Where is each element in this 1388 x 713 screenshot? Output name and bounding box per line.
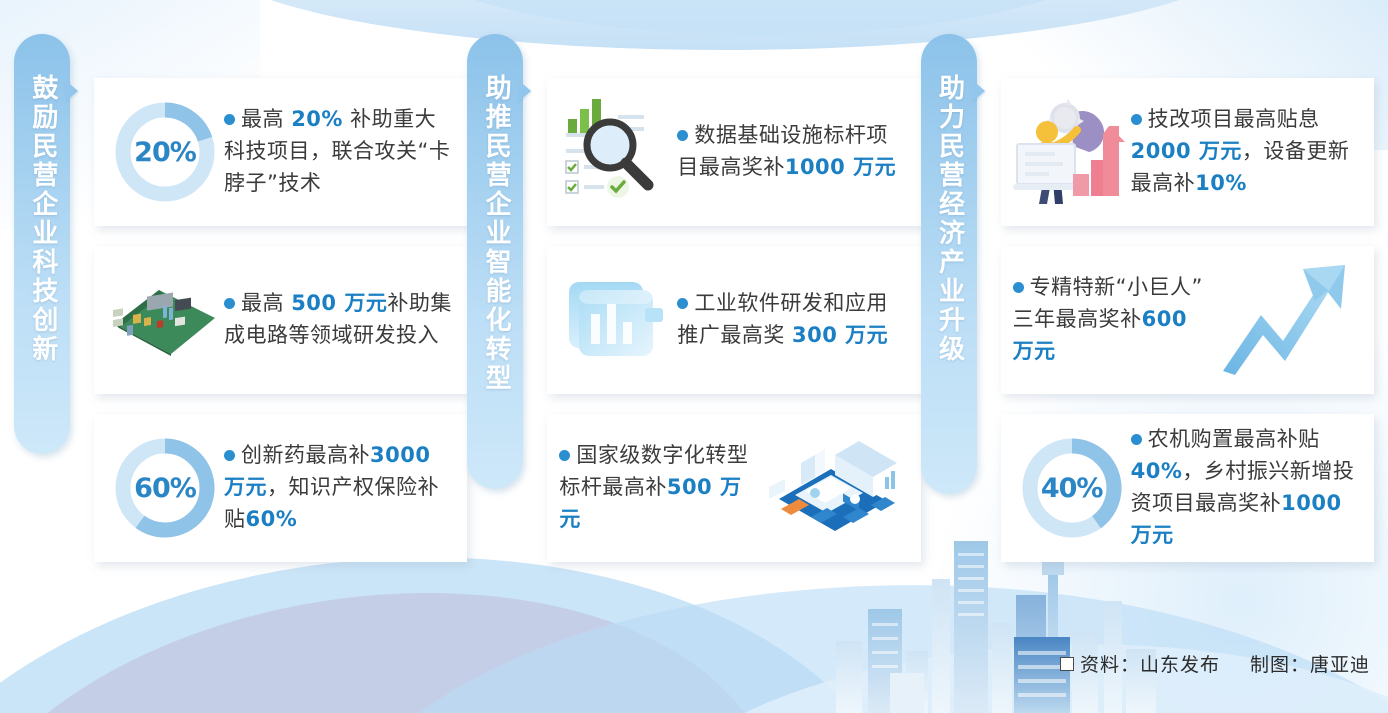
donut-value-label: 60% (111, 434, 219, 542)
column-technology-innovation: 鼓励民营企业科技创新 20% 最高 20% 补助重大科 (14, 34, 467, 623)
bullet-icon (1131, 434, 1142, 445)
card-data-infrastructure[interactable]: 数据基础设施标杆项目最高奖补1000 万元 (547, 78, 920, 226)
bullet-icon (1013, 282, 1024, 293)
card-stack-column-2: 数据基础设施标杆项目最高奖补1000 万元 (547, 34, 920, 623)
card-visual (759, 426, 909, 550)
donut-chart-40-icon: 40% (1018, 434, 1126, 542)
card-text-run-1: 20% (291, 107, 343, 131)
card-digital-transformation-benchmark[interactable]: 国家级数字化转型标杆最高补500 万元 (547, 414, 920, 562)
magnifier-chart-icon (562, 97, 674, 207)
card-text-run-0: 创新药最高补 (241, 443, 370, 467)
card-text: 最高 500 万元补助集成电路等领域研发投入 (224, 288, 455, 352)
card-innovative-drug-subsidy[interactable]: 60% 创新药最高补3000 万元，知识产权保险补贴60% (94, 414, 467, 562)
bullet-icon (677, 130, 688, 141)
bullet-icon (224, 450, 235, 461)
bullet-icon (224, 298, 235, 309)
bullet-icon (677, 298, 688, 309)
card-text-run-0: 技改项目最高贴息 (1148, 107, 1320, 131)
card-visual: 40% (1013, 426, 1131, 550)
banner-technology-innovation: 鼓励民营企业科技创新 (14, 34, 70, 454)
bullet-icon (559, 450, 570, 461)
credit-designer: 制图：唐亚迪 (1250, 650, 1370, 677)
donut-chart-20-icon: 20% (111, 98, 219, 206)
circuit-board-icon (109, 278, 221, 362)
card-agricultural-machinery-subsidy[interactable]: 40% 农机购置最高补贴40%，乡村振兴新增投资项目最高奖补1000 万元 (1001, 414, 1374, 562)
column-container: 鼓励民营企业科技创新 20% 最高 20% 补助重大科 (0, 0, 1388, 713)
banner-intelligent-transformation: 助推民营企业智能化转型 (467, 34, 523, 489)
card-text: 创新药最高补3000 万元，知识产权保险补贴60% (224, 440, 455, 536)
banner-label: 助力民营经济产业升级 (934, 74, 964, 494)
credit-source: 资料：山东发布 (1080, 650, 1220, 677)
credit-marker-icon (1060, 657, 1074, 671)
card-text: 技改项目最高贴息 2000 万元，设备更新最高补10% (1131, 104, 1362, 200)
card-text-run-1: 500 万元 (291, 291, 387, 315)
banner-label: 鼓励民营企业科技创新 (27, 74, 57, 454)
card-text: 最高 20% 补助重大科技项目，联合攻关“卡脖子”技术 (224, 104, 455, 200)
card-text-run-1: 300 万元 (792, 323, 888, 347)
card-text-run-0: 农机购置最高补贴 (1148, 427, 1320, 451)
card-visual (106, 258, 224, 382)
card-stack-column-1: 20% 最高 20% 补助重大科技项目，联合攻关“卡脖子”技术 (94, 34, 467, 623)
card-visual (559, 90, 677, 214)
card-text: 农机购置最高补贴40%，乡村振兴新增投资项目最高奖补1000 万元 (1131, 424, 1362, 552)
credit-line: 资料：山东发布 制图：唐亚迪 (1060, 650, 1370, 677)
card-text-run-3: 10% (1195, 171, 1247, 195)
card-text-run-0: 最高 (241, 291, 291, 315)
column-industry-upgrade: 助力民营经济产业升级 (921, 34, 1374, 623)
card-visual (559, 258, 677, 382)
card-text-run-1: 40% (1131, 459, 1183, 483)
card-technical-renovation-interest[interactable]: 技改项目最高贴息 2000 万元，设备更新最高补10% (1001, 78, 1374, 226)
arrow-up-icon (1217, 261, 1357, 379)
column-intelligent-transformation: 助推民营企业智能化转型 (467, 34, 920, 623)
card-major-tech-project[interactable]: 20% 最高 20% 补助重大科技项目，联合攻关“卡脖子”技术 (94, 78, 467, 226)
bullet-icon (224, 114, 235, 125)
donut-chart-60-icon: 60% (111, 434, 219, 542)
card-text-run-1: 1000 万元 (785, 155, 896, 179)
card-text-run-3: 60% (246, 507, 298, 531)
card-integrated-circuit-rd[interactable]: 最高 500 万元补助集成电路等领域研发投入 (94, 246, 467, 394)
banner-label: 助推民营企业智能化转型 (481, 74, 511, 489)
bullet-icon (1131, 114, 1142, 125)
card-text: 国家级数字化转型标杆最高补500 万元 (559, 440, 758, 536)
card-specialized-little-giant[interactable]: 专精特新“小巨人”三年最高奖补600 万元 (1001, 246, 1374, 394)
card-visual: 20% (106, 90, 224, 214)
card-text-run-1: 2000 万元 (1131, 139, 1242, 163)
person-growth-icon (1013, 96, 1131, 208)
card-text: 数据基础设施标杆项目最高奖补1000 万元 (677, 120, 908, 184)
bar-card-icon (563, 272, 673, 368)
digital-city-icon (759, 425, 909, 551)
card-stack-column-3: 技改项目最高贴息 2000 万元，设备更新最高补10% (1001, 34, 1374, 623)
card-text-run-0: 最高 (241, 107, 291, 131)
card-visual (1212, 258, 1362, 382)
card-text: 工业软件研发和应用推广最高奖 300 万元 (677, 288, 908, 352)
card-visual: 60% (106, 426, 224, 550)
banner-industry-upgrade: 助力民营经济产业升级 (921, 34, 977, 494)
card-industrial-software[interactable]: 工业软件研发和应用推广最高奖 300 万元 (547, 246, 920, 394)
infographic-poster: 鼓励民营企业科技创新 20% 最高 20% 补助重大科 (0, 0, 1388, 713)
card-text: 专精特新“小巨人”三年最高奖补600 万元 (1013, 272, 1212, 368)
donut-value-label: 40% (1018, 434, 1126, 542)
card-visual (1013, 90, 1131, 214)
donut-value-label: 20% (111, 98, 219, 206)
